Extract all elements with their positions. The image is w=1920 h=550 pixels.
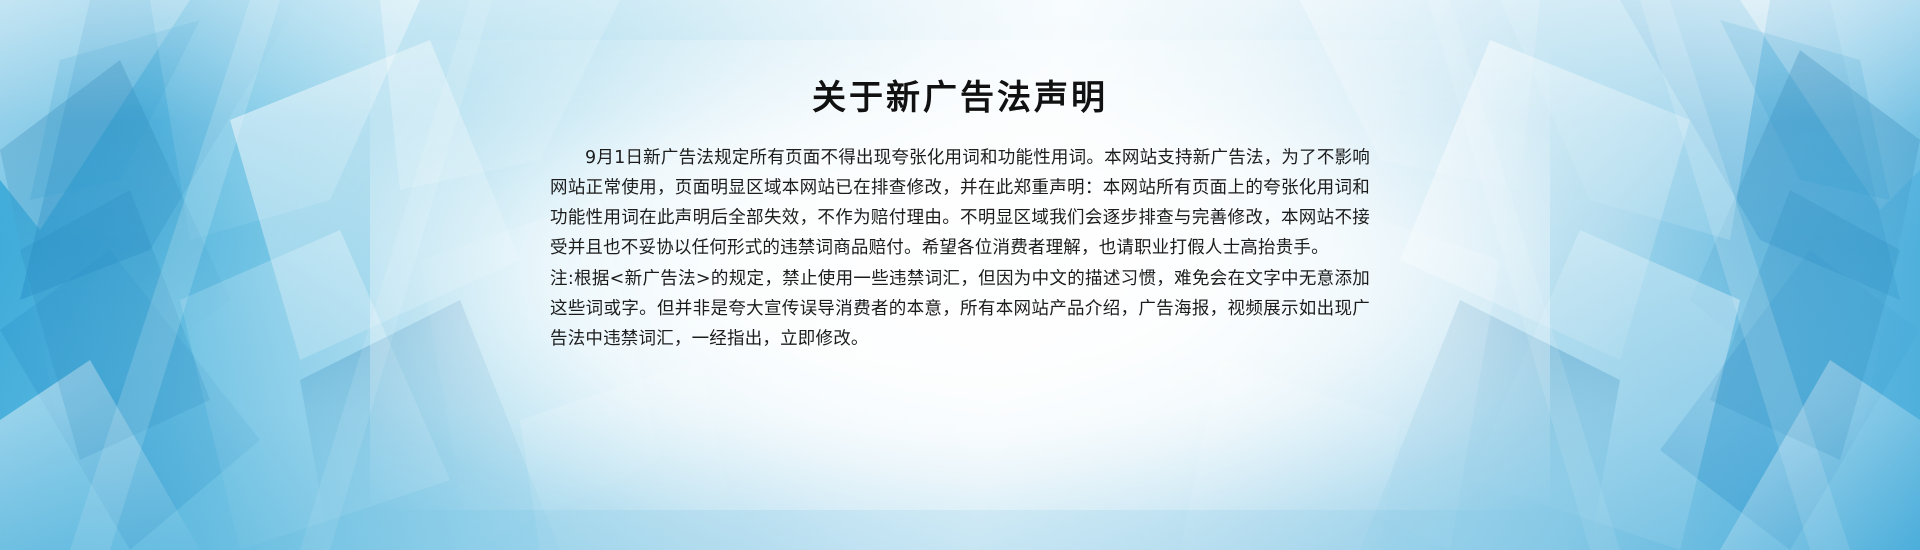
page-title: 关于新广告法声明 <box>550 78 1370 119</box>
advertising-law-statement-banner: 关于新广告法声明 9月1日新广告法规定所有页面不得出现夸张化用词和功能性用词。本… <box>0 0 1920 550</box>
statement-paragraph-note: 注:根据<新广告法>的规定，禁止使用一些违禁词汇，但因为中文的描述习惯，难免会在… <box>550 264 1370 354</box>
statement-content: 关于新广告法声明 9月1日新广告法规定所有页面不得出现夸张化用词和功能性用词。本… <box>550 0 1370 550</box>
statement-paragraph-body: 9月1日新广告法规定所有页面不得出现夸张化用词和功能性用词。本网站支持新广告法，… <box>550 143 1370 263</box>
